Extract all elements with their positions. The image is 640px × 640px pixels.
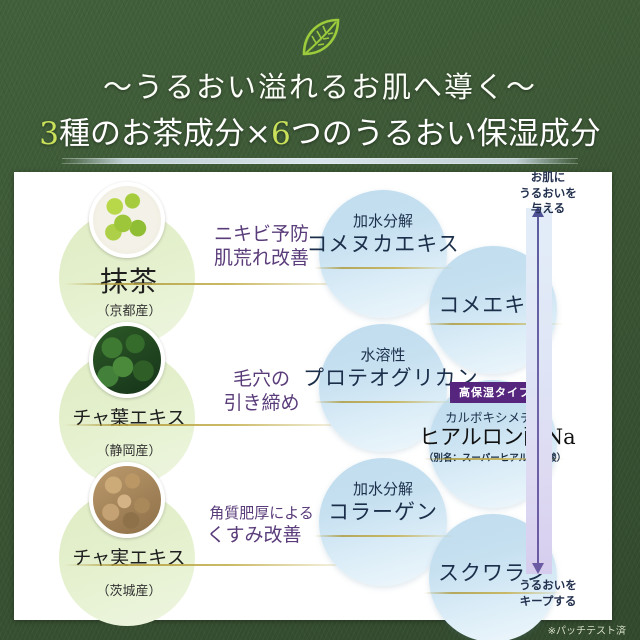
headline-text-mid: 種のお茶成分× <box>59 116 271 152</box>
headline-count-tea: 3 <box>39 116 59 152</box>
gauge-bottom-line1: うるおいを <box>492 578 604 594</box>
moisture-underline-5 <box>314 535 454 537</box>
footnote-patch-test: ※パッチテスト済 <box>548 622 626 637</box>
gauge-bottom-label: うるおいを キープする <box>492 578 604 609</box>
gauge-top-line3: 与える <box>492 201 604 217</box>
moisture-gauge-line <box>537 216 539 566</box>
headline-primary: 〜うるおい溢れるお肌へ導く〜 <box>0 64 640 106</box>
moisture-underline-1 <box>314 267 454 269</box>
moisture-label-1: 加水分解 コメヌカエキス <box>303 212 463 257</box>
tea-underline-2 <box>64 424 364 426</box>
moisture-gauge-band <box>526 208 552 574</box>
infographic-root: 〜うるおい溢れるお肌へ導く〜 3種のお茶成分×6つのうるおい保湿成分 抹茶 （京… <box>0 0 640 640</box>
moisture-label-1-sub: 加水分解 <box>303 212 463 231</box>
moisture-label-5-sub: 加水分解 <box>303 480 463 499</box>
headline-text-end: つのうるおい保湿成分 <box>291 116 601 152</box>
tea-name-text-1: 抹茶 <box>100 265 158 298</box>
arrow-down-icon <box>532 563 544 574</box>
gauge-top-line2: うるおいを <box>492 186 604 202</box>
headline-count-moisture: 6 <box>271 116 291 152</box>
tea-leaf-photo <box>89 322 165 398</box>
tea-benefit-3-line2: くすみ改善 <box>174 523 334 547</box>
gauge-top-line1: お肌に <box>492 170 604 186</box>
gauge-bottom-line2: キープする <box>492 594 604 610</box>
tea-underline-1 <box>64 283 364 285</box>
matcha-powder-photo <box>89 182 165 258</box>
headline-secondary: 3種のお茶成分×6つのうるおい保湿成分 <box>0 108 640 153</box>
tea-seed-photo <box>89 462 165 538</box>
header-divider <box>62 158 578 164</box>
moisture-underline-3 <box>314 401 454 403</box>
moisture-label-5: 加水分解 コラーゲン <box>303 480 463 525</box>
moisture-label-5-main: コラーゲン <box>303 499 463 525</box>
content-panel: 抹茶 （京都産） チャ葉エキス （静岡産） チャ実エキス （茨城産） ニキビ予防… <box>14 172 612 620</box>
tea-ingredient-origin-1: （京都産） <box>14 300 244 319</box>
tea-ingredient-origin-2: （静岡産） <box>14 440 244 459</box>
tea-ingredient-origin-3: （茨城産） <box>14 580 244 599</box>
tea-underline-3 <box>64 564 364 566</box>
leaf-icon <box>296 14 344 62</box>
moisture-label-1-main: コメヌカエキス <box>303 231 463 257</box>
gauge-top-label: お肌に うるおいを 与える <box>492 170 604 217</box>
moisture-label-3-sub: 水溶性 <box>303 346 463 365</box>
